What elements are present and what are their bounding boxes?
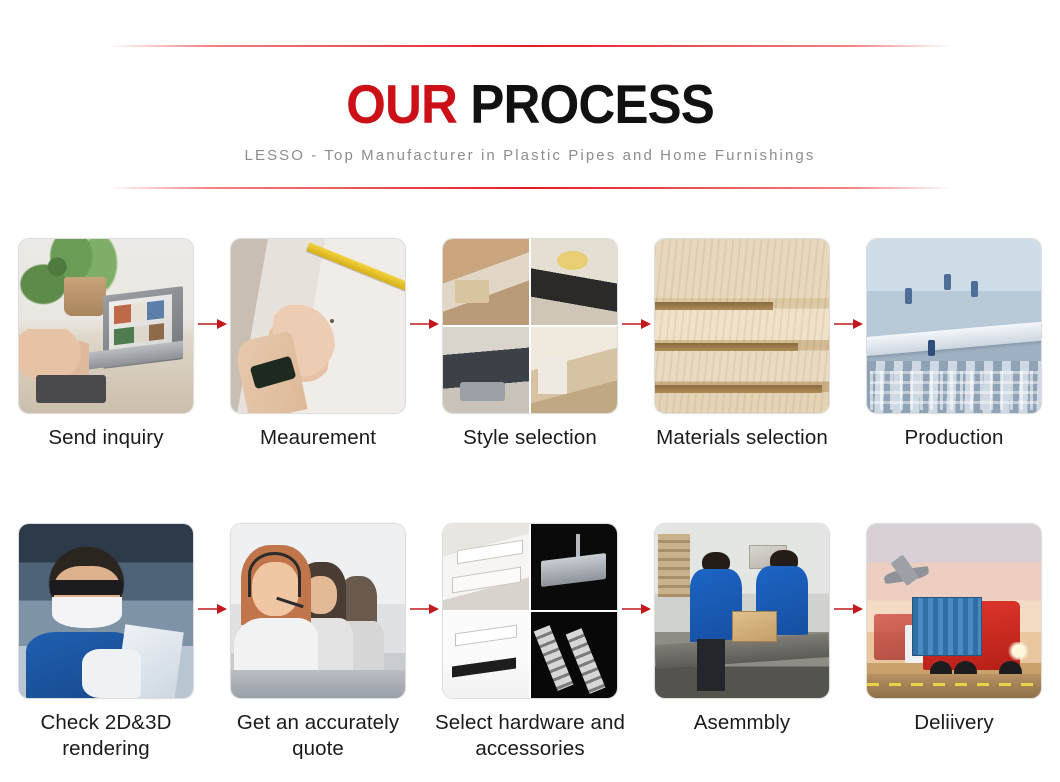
step-label: Send inquiry	[4, 425, 209, 451]
assembly-photo	[654, 523, 830, 699]
page-title-accent: OUR	[346, 73, 457, 135]
header-divider-top	[108, 45, 952, 47]
process-step-select-hardware[interactable]: Select hardware and accessories	[424, 523, 636, 762]
process-step-send-inquiry[interactable]: Send inquiry	[0, 238, 212, 451]
process-step-production[interactable]: Production	[848, 238, 1060, 451]
materials-selection-photo	[654, 238, 830, 414]
header-divider-bottom	[108, 187, 952, 189]
style-selection-photo	[442, 238, 618, 414]
process-row-2: Check 2D&3D rendering Get an accurately …	[0, 523, 1060, 762]
step-label: Deliivery	[852, 710, 1057, 736]
step-label: Production	[852, 425, 1057, 451]
page-header: OUR PROCESS LESSO - Top Manufacturer in …	[0, 0, 1060, 200]
process-row-1: Send inquiry Meaurement	[0, 238, 1060, 451]
step-label: Meaurement	[216, 425, 421, 451]
step-label: Style selection	[428, 425, 633, 451]
process-step-rendering-check[interactable]: Check 2D&3D rendering	[0, 523, 212, 762]
page-title-rest: PROCESS	[470, 73, 714, 135]
quote-agents-photo	[230, 523, 406, 699]
step-label: Asemmbly	[640, 710, 845, 736]
process-step-materials-selection[interactable]: Materials selection	[636, 238, 848, 451]
measurement-photo	[230, 238, 406, 414]
step-label: Select hardware and accessories	[428, 710, 633, 762]
our-process-infographic: OUR PROCESS LESSO - Top Manufacturer in …	[0, 0, 1060, 782]
step-label: Materials selection	[640, 425, 845, 451]
page-subtitle: LESSO - Top Manufacturer in Plastic Pipe…	[0, 146, 1060, 166]
step-label: Check 2D&3D rendering	[4, 710, 209, 762]
step-label: Get an accurately quote	[216, 710, 421, 762]
production-photo	[866, 238, 1042, 414]
process-step-assembly[interactable]: Asemmbly	[636, 523, 848, 736]
delivery-photo	[866, 523, 1042, 699]
rendering-check-photo	[18, 523, 194, 699]
hardware-accessories-photo	[442, 523, 618, 699]
process-step-measurement[interactable]: Meaurement	[212, 238, 424, 451]
page-title: OUR PROCESS	[37, 73, 1023, 135]
send-inquiry-photo	[18, 238, 194, 414]
process-step-style-selection[interactable]: Style selection	[424, 238, 636, 451]
process-step-delivery[interactable]: Deliivery	[848, 523, 1060, 736]
process-step-get-quote[interactable]: Get an accurately quote	[212, 523, 424, 762]
